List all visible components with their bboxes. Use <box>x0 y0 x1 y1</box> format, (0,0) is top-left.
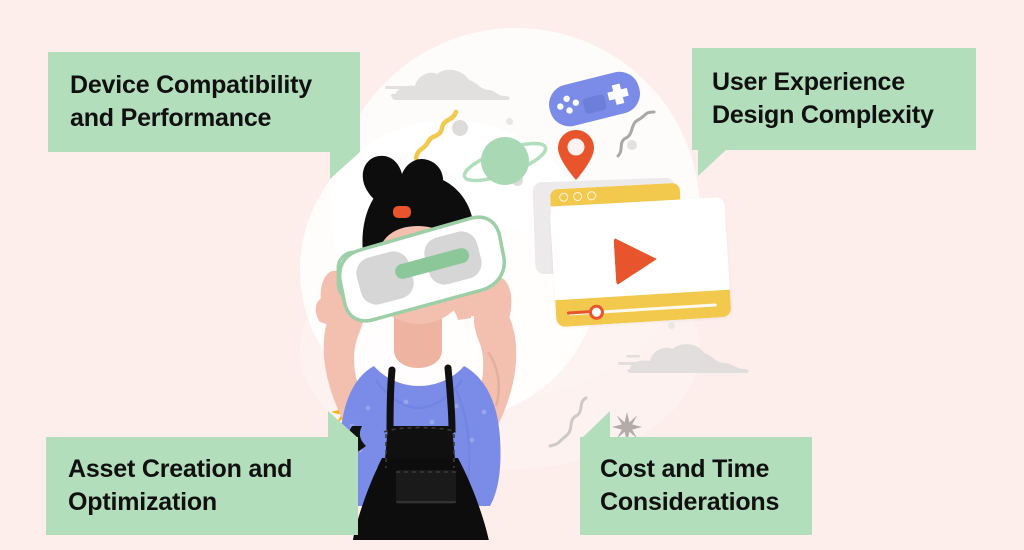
callout-text: Asset Creation and Optimization <box>68 453 292 519</box>
decor-dot <box>668 322 675 329</box>
cloud-icon <box>618 335 753 377</box>
callout-tail-user-experience <box>698 150 726 176</box>
callout-device-compatibility[interactable]: Device Compatibility and Performance <box>48 52 360 152</box>
video-player-card[interactable] <box>550 197 732 327</box>
callout-user-experience[interactable]: User Experience Design Complexity <box>692 48 976 150</box>
callout-tail-cost-and-time <box>582 411 610 438</box>
game-controller-icon <box>545 70 645 132</box>
callout-asset-creation[interactable]: Asset Creation and Optimization <box>46 437 358 535</box>
callout-text: Cost and Time Considerations <box>600 453 779 519</box>
cloud-icon <box>385 60 515 105</box>
callout-text: User Experience Design Complexity <box>712 66 934 132</box>
decor-dot <box>627 140 637 150</box>
callout-text: Device Compatibility and Performance <box>70 69 312 135</box>
play-button-icon[interactable] <box>613 235 658 285</box>
progress-knob[interactable] <box>589 304 605 320</box>
browser-dot-icon <box>587 191 596 200</box>
video-progress-bar[interactable] <box>555 290 731 328</box>
callout-cost-and-time[interactable]: Cost and Time Considerations <box>580 437 812 535</box>
callout-tail-asset-creation <box>328 411 358 438</box>
infographic-canvas: Device Compatibility and Performance Use… <box>0 0 1024 550</box>
callout-tail-device-compatibility <box>330 152 360 179</box>
decor-dot <box>506 118 513 125</box>
